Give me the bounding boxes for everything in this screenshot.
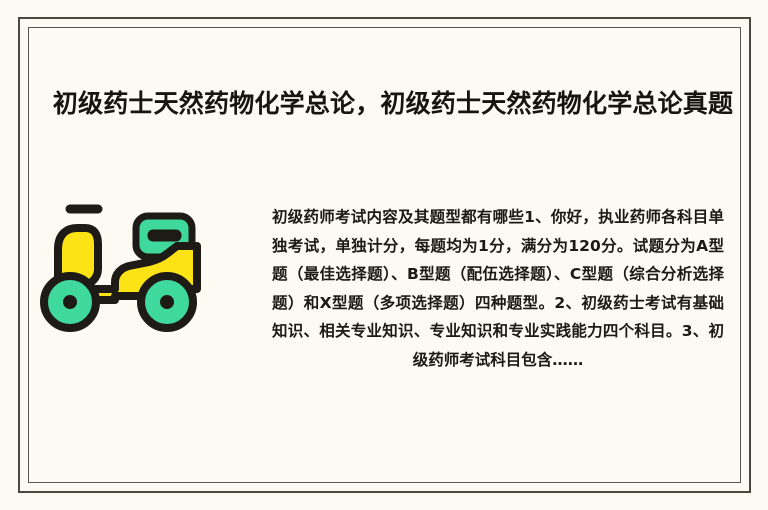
article-content: 初级药师考试内容及其题型都有哪些1、你好，执业药师各科目单独考试，单独计分，每题… <box>0 196 768 416</box>
article-page: 初级药士天然药物化学总论，初级药士天然药物化学总论真题 <box>0 0 768 510</box>
scooter-icon <box>37 196 217 341</box>
page-title: 初级药士天然药物化学总论，初级药士天然药物化学总论真题 <box>52 86 734 122</box>
scooter-illustration <box>37 196 217 341</box>
article-body: 初级药师考试内容及其题型都有哪些1、你好，执业药师各科目单独考试，单独计分，每题… <box>272 203 724 374</box>
